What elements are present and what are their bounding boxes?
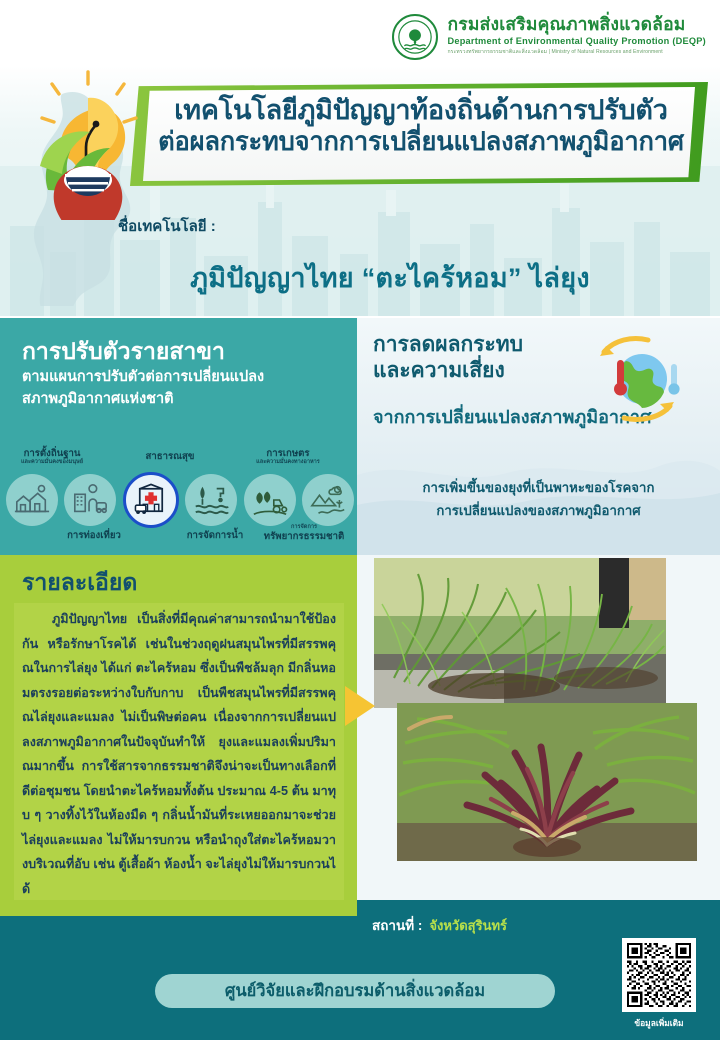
sidebar-item-public-health[interactable] <box>123 472 179 528</box>
sidebar-item-tourism[interactable] <box>64 474 116 526</box>
deqp-text-block: กรมส่งเสริมคุณภาพสิ่งแวดล้อม Department … <box>447 14 706 56</box>
qr-code-icon <box>627 943 691 1007</box>
org-name-th: กรมส่งเสริมคุณภาพสิ่งแวดล้อม <box>447 15 706 35</box>
sector-label-settlement: การตั้งถิ่นฐาน และความมั่นคงของมนุษย์ <box>0 448 104 466</box>
mitigation-heading-line2: และความเสี่ยง <box>373 359 505 382</box>
mitigation-heading-line1: การลดผลกระทบ <box>373 333 523 356</box>
details-panel: รายละเอียด ภูมิปัญญาไทย เป็นสิ่งที่มีคุณ… <box>0 555 357 955</box>
details-body: ภูมิปัญญาไทย เป็นสิ่งที่มีคุณค่าสามารถนำ… <box>14 603 344 943</box>
globe-thermometer-icon <box>582 334 694 426</box>
sector-icon-strip: การตั้งถิ่นฐาน และความมั่นคงของมนุษย์ สา… <box>0 446 357 555</box>
adaptation-sub-line1: ตามแผนการปรับตัวต่อการเปลี่ยนแปลง <box>22 369 264 385</box>
arrow-right-icon <box>345 686 375 726</box>
mitigation-note-line2: การเปลี่ยนแปลงของสภาพภูมิอากาศ <box>436 503 640 518</box>
center-name-pill: ศูนย์วิจัยและฝึกอบรมด้านสิ่งแวดล้อม <box>155 974 555 1008</box>
sector-label-agriculture: การเกษตร และความมั่นคงทางอาหาร <box>228 448 348 466</box>
location-row: สถานที่ : จังหวัดสุรินทร์ <box>372 914 507 936</box>
sector-bottom-labels: การท่องเที่ยว การจัดการน้ำ การจัดการ ทรั… <box>0 524 357 554</box>
mitigation-note-line1: การเพิ่มขึ้นของยุงที่เป็นพาหะของโรคจาก <box>423 480 655 495</box>
adaptation-subheading: ตามแผนการปรับตัวต่อการเปลี่ยนแปลง สภาพภู… <box>22 366 342 411</box>
hospital-ambulance-icon <box>132 481 170 519</box>
org-name-en: Department of Environmental Quality Prom… <box>447 36 706 48</box>
technology-name: ภูมิปัญญาไทย “ตะไคร้หอม” ไล่ยุง <box>0 256 720 299</box>
green-divider-bar <box>0 900 357 916</box>
mountain-forest-icon <box>309 481 347 519</box>
sidebar-item-settlement[interactable] <box>6 474 58 526</box>
tree-water-seal-icon <box>392 14 438 60</box>
center-name: ศูนย์วิจัยและฝึกอบรมด้านสิ่งแวดล้อม <box>225 978 485 1004</box>
poster-title: เทคโนโลยีภูมิปัญญาท้องถิ่นด้านการปรับตัว… <box>156 94 686 158</box>
qr-code[interactable] <box>622 938 696 1012</box>
adaptation-panel: การปรับตัวรายสาขา ตามแผนการปรับตัวต่อการ… <box>0 318 357 555</box>
crops-tractor-icon <box>251 481 289 519</box>
adaptation-heading: การปรับตัวรายสาขา <box>22 334 225 370</box>
title-line-2: ต่อผลกระทบจากการเปลี่ยนแปลงสภาพภูมิอากาศ <box>156 127 686 158</box>
location-value: จังหวัดสุรินทร์ <box>429 915 507 936</box>
title-line-1: เทคโนโลยีภูมิปัญญาท้องถิ่นด้านการปรับตัว <box>156 94 686 127</box>
sector-label-public-health: สาธารณสุข <box>118 451 222 462</box>
sidebar-item-agriculture[interactable] <box>244 474 296 526</box>
sector-label-natural-resources: การจัดการ ทรัพยากรธรรมชาติ <box>252 524 356 542</box>
photo-citronella-purple <box>397 703 697 861</box>
footer-band: สถานที่ : จังหวัดสุรินทร์ ศูนย์วิจัยและฝ… <box>0 900 720 1040</box>
deqp-logo: กรมส่งเสริมคุณภาพสิ่งแวดล้อม Department … <box>392 14 706 60</box>
lightbulb-leaf-pin-icon <box>18 70 158 220</box>
details-heading: รายละเอียด <box>22 565 137 601</box>
technology-label: ชื่อเทคโนโลยี : <box>118 214 216 238</box>
photo-zone <box>357 555 720 900</box>
city-travel-icon <box>71 481 109 519</box>
sidebar-item-water-management[interactable] <box>185 474 237 526</box>
org-ministry: กระทรวงทรัพยากรธรรมชาติและสิ่งแวดล้อม | … <box>447 49 706 56</box>
photo-lemongrass-green <box>374 558 666 708</box>
details-text: ภูมิปัญญาไทย เป็นสิ่งที่มีคุณค่าสามารถนำ… <box>22 607 336 902</box>
adaptation-sub-line2: สภาพภูมิอากาศแห่งชาติ <box>22 391 174 407</box>
sidebar-item-natural-resources[interactable] <box>302 474 354 526</box>
location-label: สถานที่ : <box>372 914 422 936</box>
sector-label-tourism: การท่องเที่ยว <box>42 530 146 541</box>
poster-root: กรมส่งเสริมคุณภาพสิ่งแวดล้อม Department … <box>0 0 720 1040</box>
village-houses-icon <box>13 481 51 519</box>
mitigation-note: การเพิ่มขึ้นของยุงที่เป็นพาหะของโรคจาก ก… <box>357 476 720 522</box>
river-faucet-icon <box>192 481 230 519</box>
mitigation-panel: การลดผลกระทบ และความเสี่ยง จากการเปลี่ยน… <box>357 318 720 555</box>
title-banner: เทคโนโลยีภูมิปัญญาท้องถิ่นด้านการปรับตัว… <box>130 82 708 186</box>
title-zone: เทคโนโลยีภูมิปัญญาท้องถิ่นด้านการปรับตัว… <box>0 66 720 316</box>
qr-caption: ข้อมูลเพิ่มเติม <box>622 1016 696 1030</box>
sector-icons-row <box>6 472 354 528</box>
